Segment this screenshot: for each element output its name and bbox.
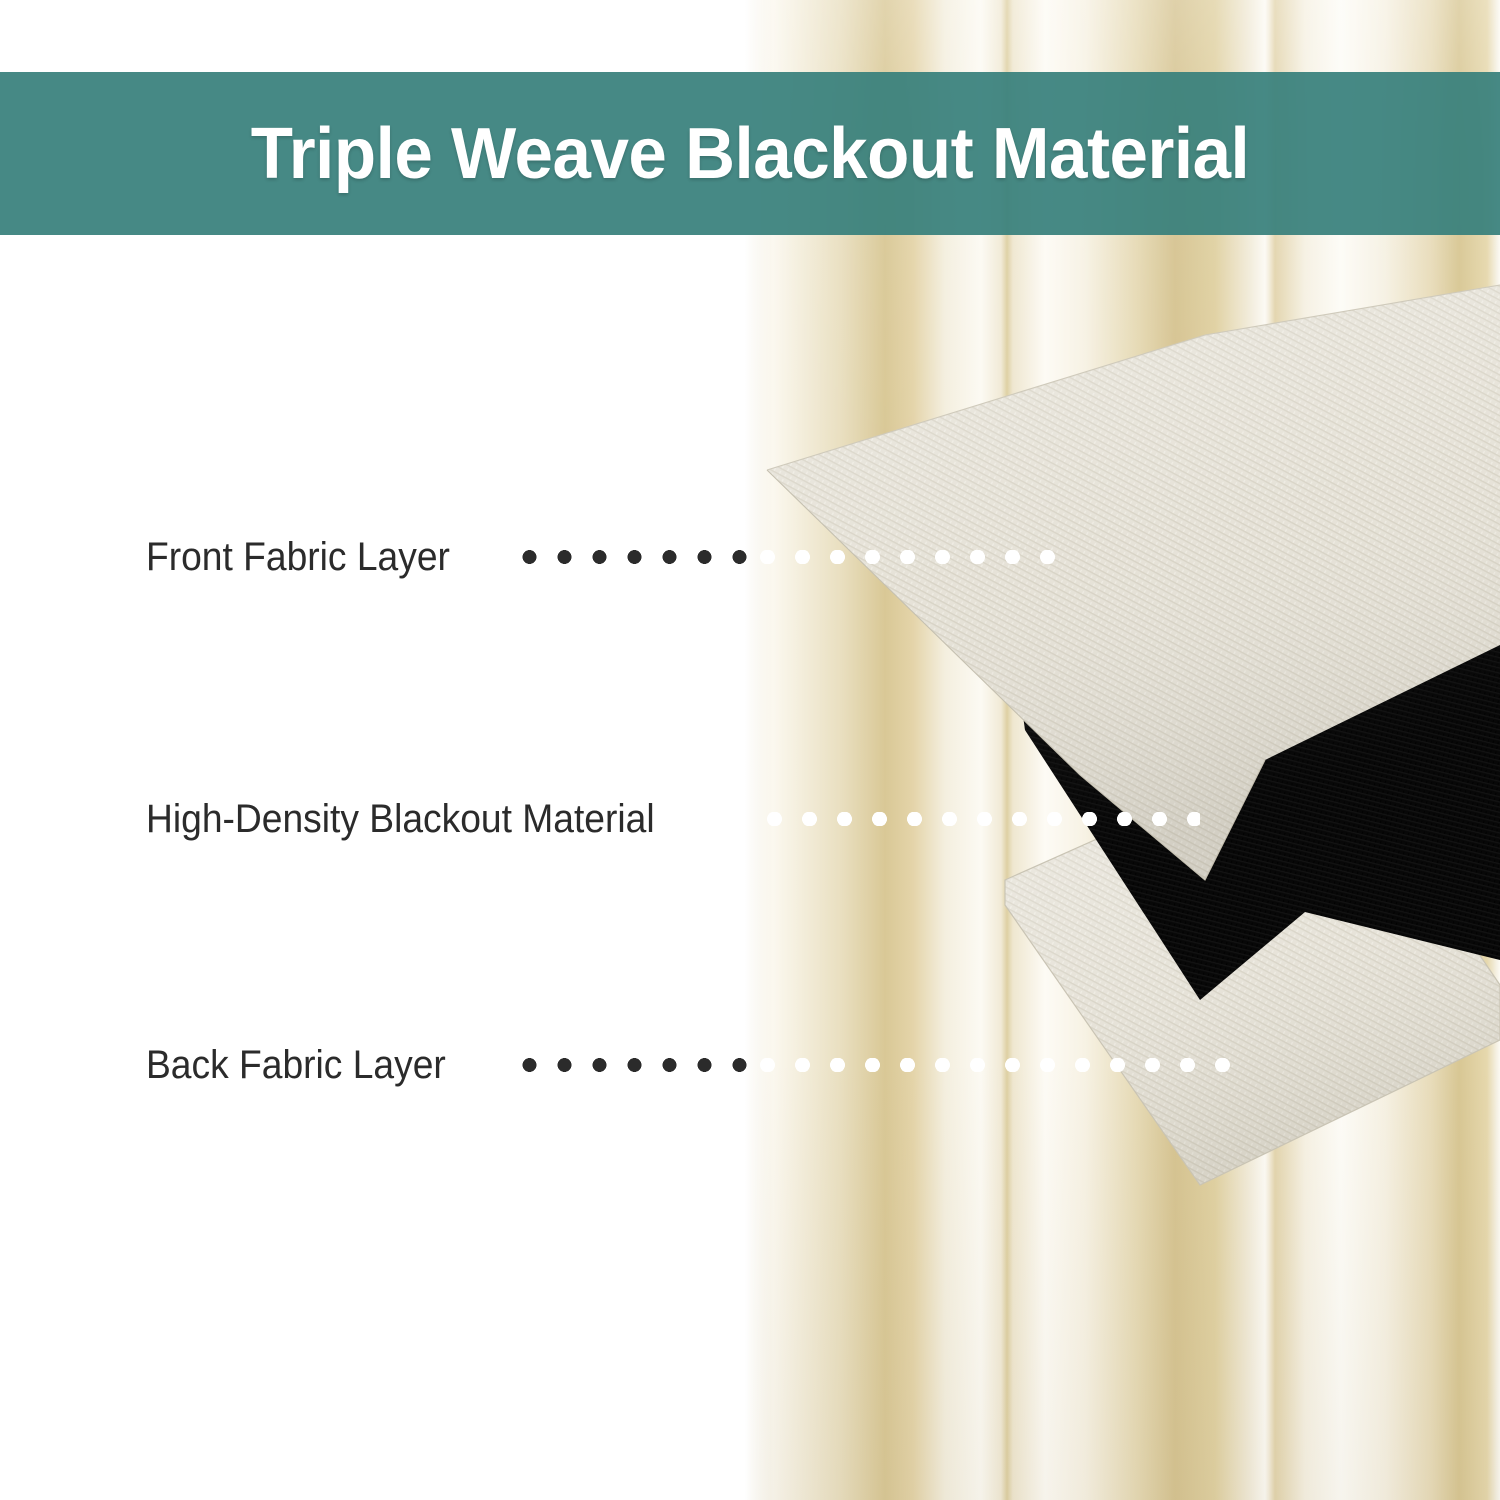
dotted-leader-line-light-3: [750, 1058, 1240, 1072]
infographic-canvas: Triple Weave Blackout Material Front Fab…: [0, 0, 1500, 1500]
title-banner: Triple Weave Blackout Material: [0, 72, 1500, 235]
callout-front-fabric-layer: Front Fabric Layer: [146, 534, 473, 580]
callout-label-blackout-material: High-Density Blackout Material: [146, 799, 655, 839]
callout-label-front-fabric: Front Fabric Layer: [146, 537, 450, 577]
callout-high-density-blackout: High-Density Blackout Material: [146, 796, 693, 842]
page-title: Triple Weave Blackout Material: [251, 118, 1249, 190]
callout-label-back-fabric: Back Fabric Layer: [146, 1045, 446, 1085]
callout-back-fabric-layer: Back Fabric Layer: [146, 1042, 468, 1088]
dotted-leader-line-dark-3: [512, 1058, 750, 1072]
dotted-leader-line-dark-1: [512, 550, 750, 564]
dotted-leader-line-light-1: [750, 550, 1068, 564]
dotted-leader-line-light-2: [757, 812, 1200, 826]
